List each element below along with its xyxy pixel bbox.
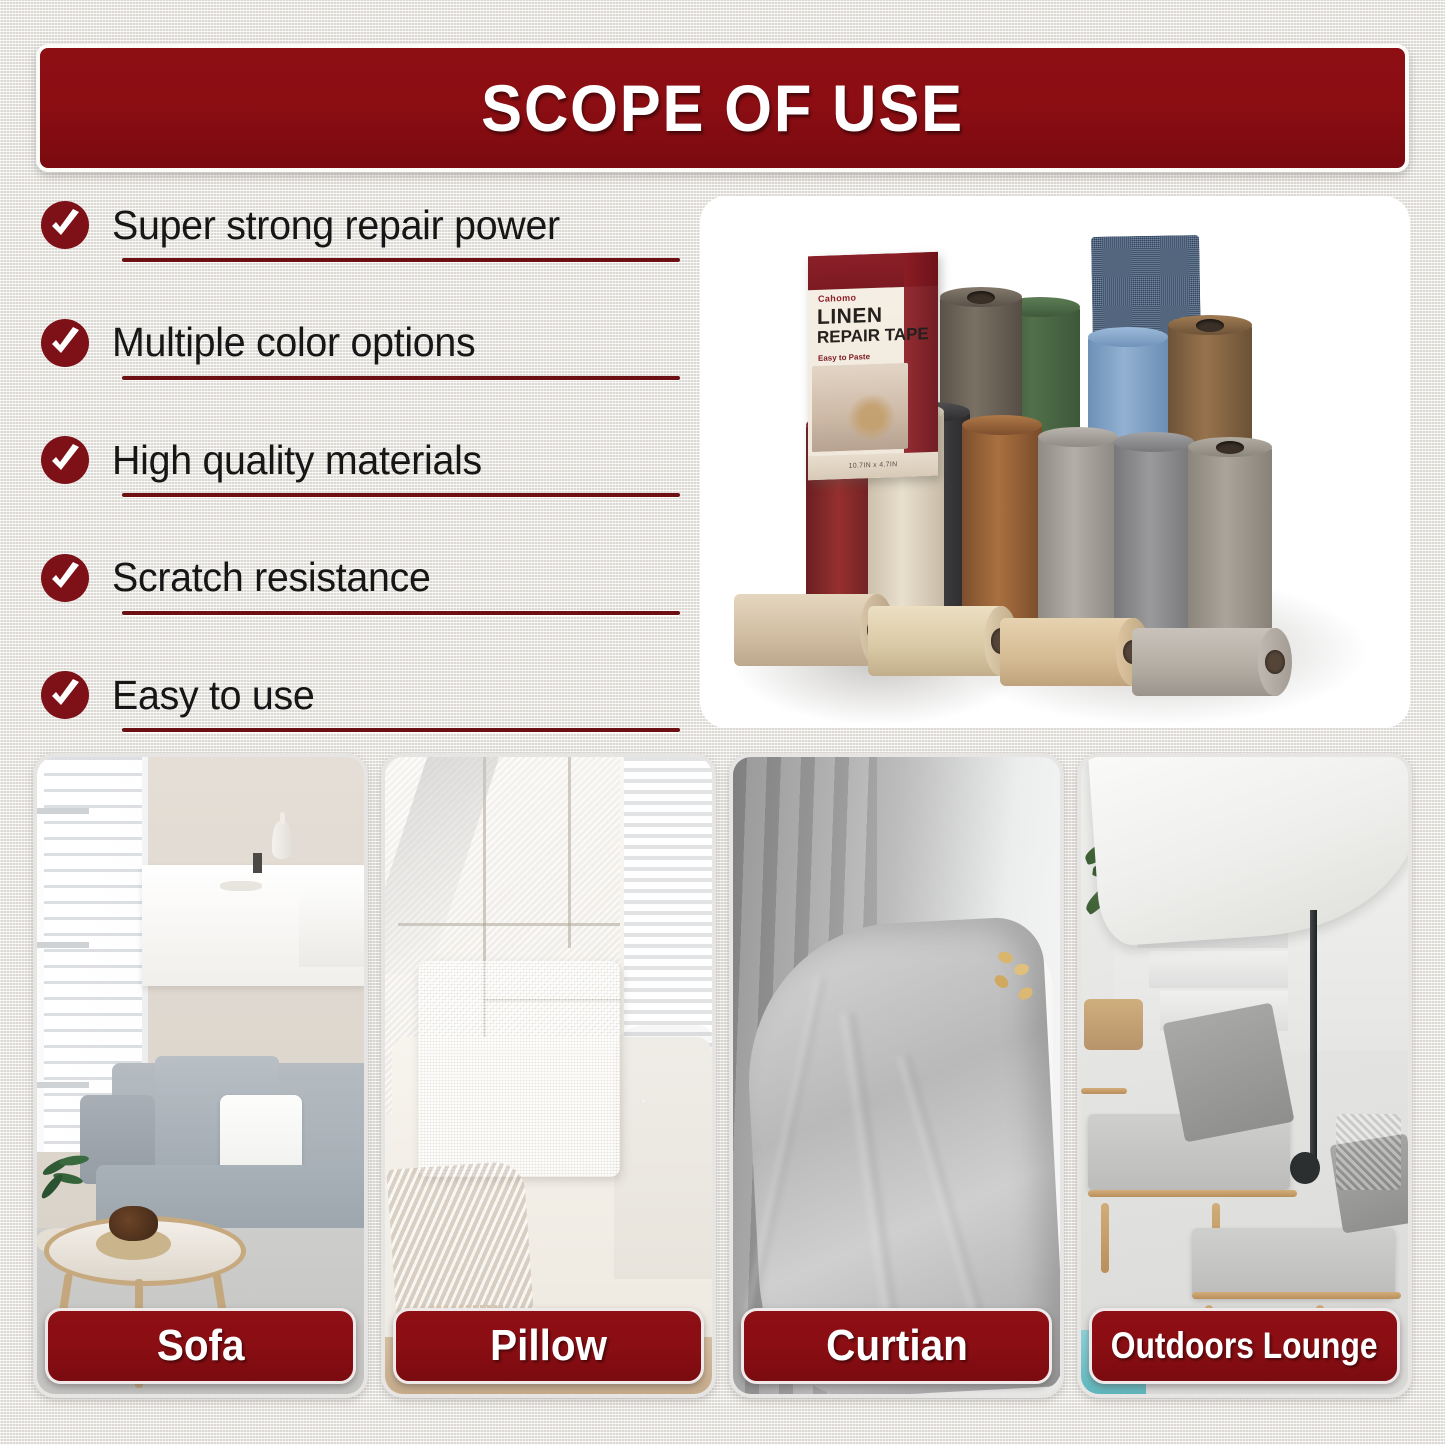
feature-divider	[122, 728, 680, 732]
panel-label: Sofa	[157, 1321, 245, 1371]
panel-label-badge: Pillow	[393, 1308, 704, 1384]
tape-roll-silver-lying	[1132, 628, 1282, 696]
page-title: SCOPE OF USE	[481, 70, 964, 146]
list-item: High quality materials	[40, 427, 680, 497]
tape-roll-sand-lying	[868, 606, 1008, 676]
list-item: Scratch resistance	[40, 545, 680, 615]
feature-divider	[122, 611, 680, 615]
grey-curtain-scene	[733, 757, 1060, 1394]
box-size-text: 10.7IN x 4.7IN	[808, 452, 938, 481]
tape-roll-grey	[1114, 441, 1194, 641]
living-room-sofa-scene	[37, 757, 364, 1394]
panel-label: Curtian	[826, 1321, 968, 1371]
armchair-pillow-scene	[385, 757, 712, 1394]
feature-label: Easy to use	[112, 672, 315, 719]
panel-label: Outdoors Lounge	[1111, 1325, 1378, 1367]
panel-curtain[interactable]: Curtian	[729, 753, 1064, 1398]
list-item: Super strong repair power	[40, 192, 680, 262]
box-brand: Cahomo	[818, 293, 856, 304]
tape-roll-light-grey	[1038, 436, 1118, 636]
list-item: Multiple color options	[40, 310, 680, 380]
box-tagline-1: Easy to Paste	[818, 352, 870, 363]
check-circle-icon	[40, 200, 90, 250]
poolside-lounger-scene	[1081, 757, 1408, 1394]
feature-list: Super strong repair power Multiple color…	[40, 192, 680, 732]
tape-roll-warm-grey	[1188, 446, 1272, 651]
feature-divider	[122, 493, 680, 497]
panel-sofa[interactable]: Sofa	[33, 753, 368, 1398]
box-side-panel	[904, 252, 938, 477]
panel-outdoors-lounge[interactable]: Outdoors Lounge	[1077, 753, 1412, 1398]
check-circle-icon	[40, 670, 90, 720]
tape-roll-beige-lying	[734, 594, 884, 666]
feature-divider	[122, 258, 680, 262]
feature-divider	[122, 376, 680, 380]
product-photo-card: Cahomo LINEN REPAIR TAPE Easy to Paste Q…	[700, 196, 1410, 728]
tape-roll-tan-lying	[1000, 618, 1140, 686]
product-box: Cahomo LINEN REPAIR TAPE Easy to Paste Q…	[808, 252, 938, 481]
feature-label: High quality materials	[112, 437, 482, 484]
tape-roll-rust	[962, 424, 1042, 629]
infographic-page: SCOPE OF USE Super strong repair power M…	[0, 0, 1445, 1445]
panel-label: Pillow	[490, 1321, 607, 1371]
feature-label: Multiple color options	[112, 319, 475, 366]
panel-label-badge: Outdoors Lounge	[1089, 1308, 1400, 1384]
panel-label-badge: Curtian	[741, 1308, 1052, 1384]
page-title-banner: SCOPE OF USE	[36, 44, 1409, 172]
use-case-panels: Sofa Pillow	[33, 753, 1412, 1398]
panel-pillow[interactable]: Pillow	[381, 753, 716, 1398]
box-photo	[812, 363, 908, 452]
box-title-line1: LINEN	[817, 306, 883, 328]
check-circle-icon	[40, 553, 90, 603]
check-circle-icon	[40, 435, 90, 485]
product-rolls-arrangement: Cahomo LINEN REPAIR TAPE Easy to Paste Q…	[700, 196, 1410, 728]
check-circle-icon	[40, 318, 90, 368]
feature-label: Scratch resistance	[112, 554, 431, 601]
feature-label: Super strong repair power	[112, 202, 560, 249]
list-item: Easy to use	[40, 662, 680, 732]
panel-label-badge: Sofa	[45, 1308, 356, 1384]
